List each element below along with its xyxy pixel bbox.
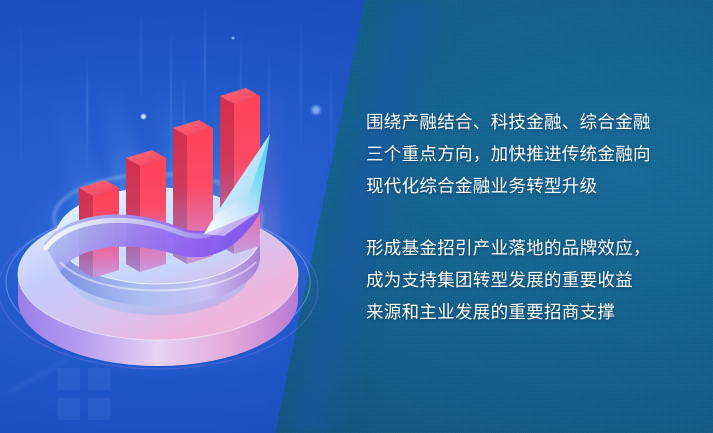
promo-banner: 围绕产融结合、科技金融、综合金融 三个重点方向，加快推进传统金融向 现代化综合金… [0, 0, 713, 433]
paragraph-two: 形成基金招引产业落地的品牌效应， 成为支持集团转型发展的重要收益 来源和主业发展… [366, 232, 686, 328]
bar-2 [126, 150, 166, 272]
growth-chart-illustration [8, 86, 328, 386]
paragraph-one: 围绕产融结合、科技金融、综合金融 三个重点方向，加快推进传统金融向 现代化综合金… [366, 106, 686, 202]
